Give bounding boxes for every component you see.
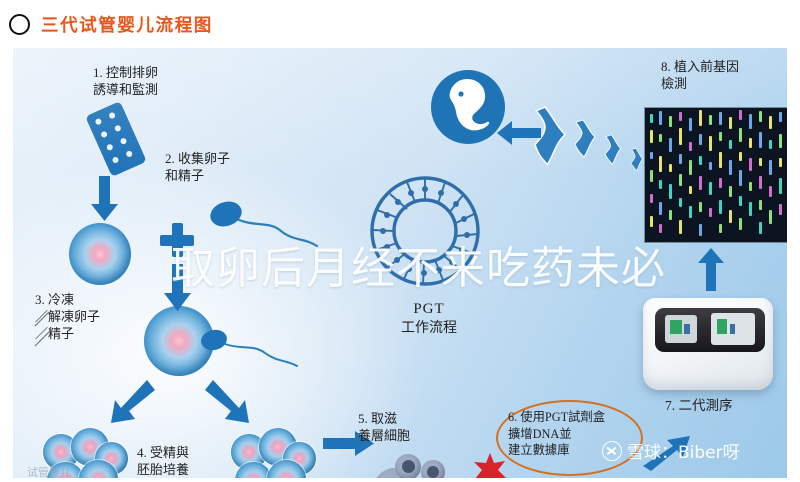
- main-watermark-text: 取卵后月经不来吃药未必: [171, 232, 666, 296]
- step-3-leader-lines: [33, 310, 55, 352]
- step-4-label: 4. 受精與 胚胎培養: [137, 444, 189, 478]
- footnote-text: 试管婴儿: [27, 464, 71, 478]
- chromosome-icons: [531, 100, 659, 192]
- trophectoderm-cells-icon: [367, 452, 451, 478]
- step-7-label: 7. 二代測序: [665, 397, 733, 415]
- arrow-fertilized-to-embryo-left: [99, 378, 157, 428]
- arrow-sequencer-to-microarray: [697, 248, 725, 292]
- pgt-center-label-line1: PGT: [399, 300, 459, 320]
- pill-blister-icon: [85, 101, 147, 177]
- embryo-cluster-right-icon: [229, 426, 319, 478]
- step-1-label: 1. 控制排卵 誘導和監測: [93, 64, 158, 98]
- ivf-process-diagram: 1. 控制排卵 誘導和監測 2. 收集卵子 和精子 3. 冷凍 ／解: [13, 48, 787, 478]
- sequencer-machine-icon: [643, 298, 773, 390]
- xueqiu-logo-icon: [602, 441, 622, 461]
- pgt-center-label-line2: 工作流程: [387, 320, 471, 338]
- step-5-label: 5. 取滋 養層細胞: [358, 410, 410, 444]
- dna-microarray-icon: [645, 108, 787, 242]
- arrow-step1-to-egg: [89, 176, 119, 222]
- screenshot-root: 三代试管婴儿流程图 1. 控制排卵 誘導和監測 2. 收集卵子 和精子: [0, 0, 800, 482]
- arrow-fertilized-to-embryo-right: [203, 378, 261, 428]
- corner-watermark: 雪球：Biber呀: [602, 438, 740, 463]
- circle-outline-icon: [9, 14, 30, 35]
- fetus-icon: [431, 70, 505, 144]
- red-star-icon: [473, 452, 507, 478]
- corner-watermark-text: 雪球：Biber呀: [627, 438, 740, 463]
- fertilizing-sperm-icon: [201, 326, 299, 372]
- step-2-label: 2. 收集卵子 和精子: [165, 150, 230, 184]
- arrow-chromosomes-to-fetus: [497, 120, 541, 146]
- egg-cell-icon: [69, 223, 131, 285]
- page-header: 三代试管婴儿流程图: [0, 0, 800, 48]
- step-8-label: 8. 植入前基因 檢測: [661, 58, 739, 92]
- page-title: 三代试管婴儿流程图: [41, 12, 213, 37]
- step-6-label: 6. 使用PGT試劑盒 擴增DNA並 建立數據庫: [508, 409, 605, 459]
